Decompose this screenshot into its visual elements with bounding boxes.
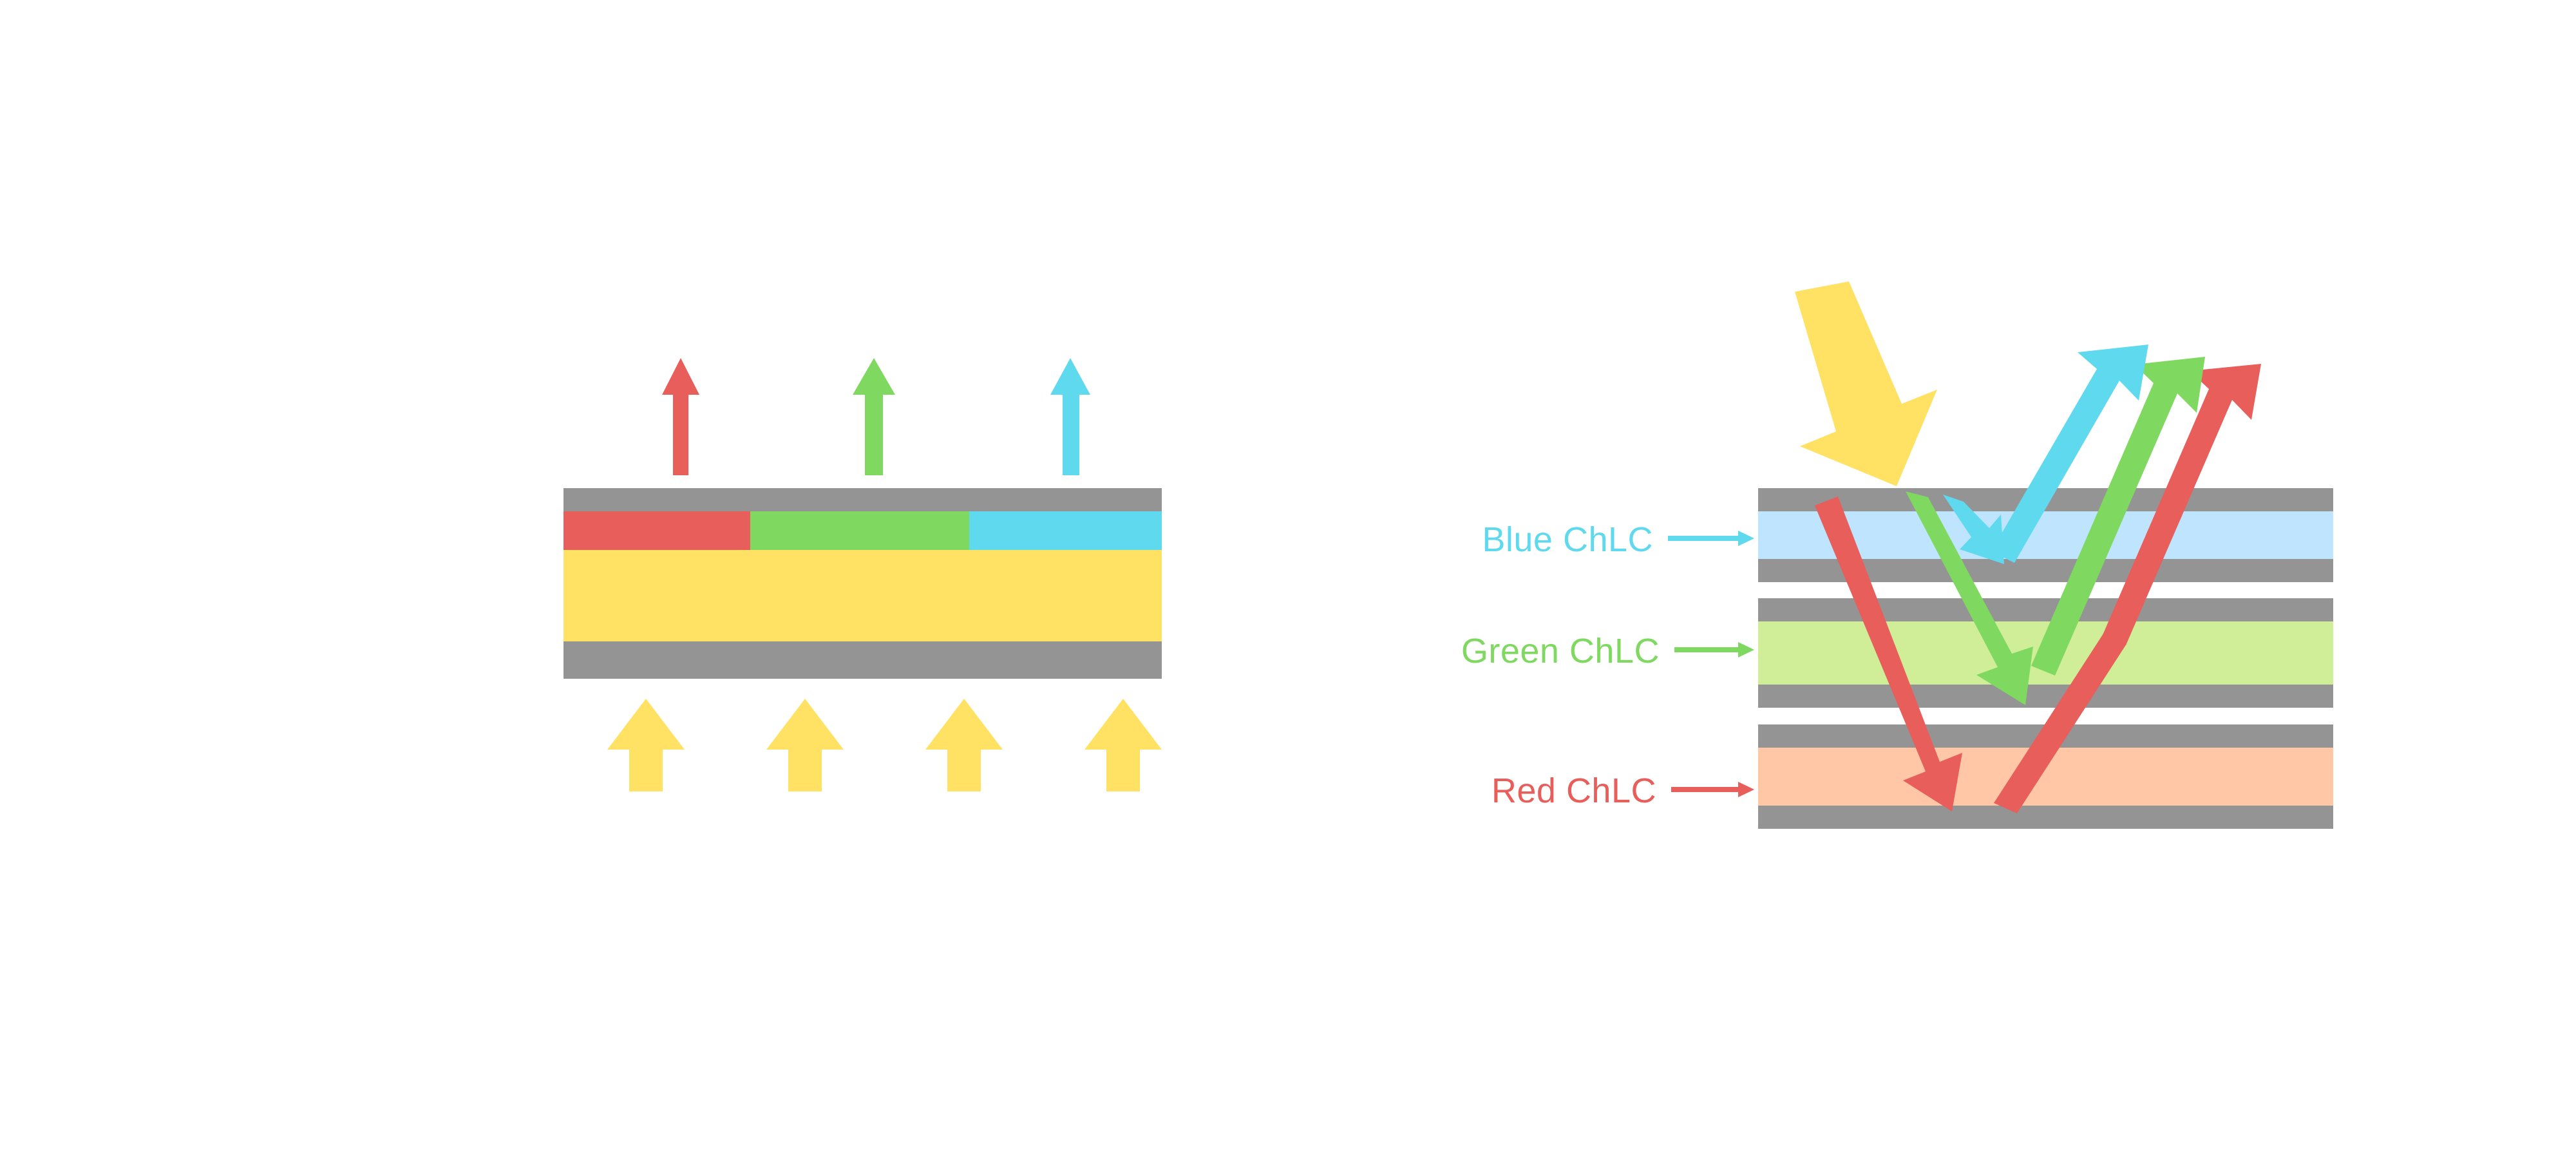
left-emitted-arrows bbox=[662, 358, 1090, 475]
red-emission-arrow bbox=[662, 358, 699, 475]
red-chlc-label: Red ChLC bbox=[1492, 771, 1656, 810]
green-cell-top-electrode bbox=[1758, 598, 2333, 621]
green-cell-bottom-electrode bbox=[1758, 685, 2333, 708]
left-backlight-arrows bbox=[607, 699, 1162, 791]
top-electrode bbox=[563, 488, 1162, 511]
left-stack bbox=[563, 488, 1162, 679]
green-subpixel bbox=[750, 511, 969, 550]
green-chlc-label: Green ChLC bbox=[1461, 632, 1660, 670]
backlight-arrow-2 bbox=[766, 699, 844, 791]
backlight-arrow-4 bbox=[1084, 699, 1162, 791]
yellow-backlight-layer bbox=[563, 550, 1162, 641]
bottom-electrode bbox=[563, 641, 1162, 679]
diagram-canvas: Blue ChLC Green ChLC Red ChLC bbox=[0, 0, 2576, 1154]
red-cell-bottom-electrode bbox=[1758, 806, 2333, 829]
diagram-stage: Blue ChLC Green ChLC Red ChLC bbox=[0, 0, 2576, 1154]
right-panel-group: Blue ChLC Green ChLC Red ChLC bbox=[1461, 281, 2333, 829]
label-leader-arrows bbox=[1668, 531, 1754, 797]
red-label-leader-arrow bbox=[1671, 782, 1754, 797]
green-label-leader-arrow bbox=[1674, 642, 1754, 657]
blue-emission-arrow bbox=[1050, 358, 1090, 475]
green-emission-arrow bbox=[853, 358, 895, 475]
backlight-arrow-3 bbox=[925, 699, 1003, 791]
incident-white-light-arrow bbox=[1795, 281, 1937, 486]
red-subpixel bbox=[563, 511, 750, 550]
left-panel-group bbox=[563, 358, 1162, 791]
blue-chlc-label: Blue ChLC bbox=[1482, 520, 1653, 559]
blue-subpixel bbox=[969, 511, 1162, 550]
backlight-arrow-1 bbox=[607, 699, 685, 791]
blue-label-leader-arrow bbox=[1668, 531, 1754, 546]
